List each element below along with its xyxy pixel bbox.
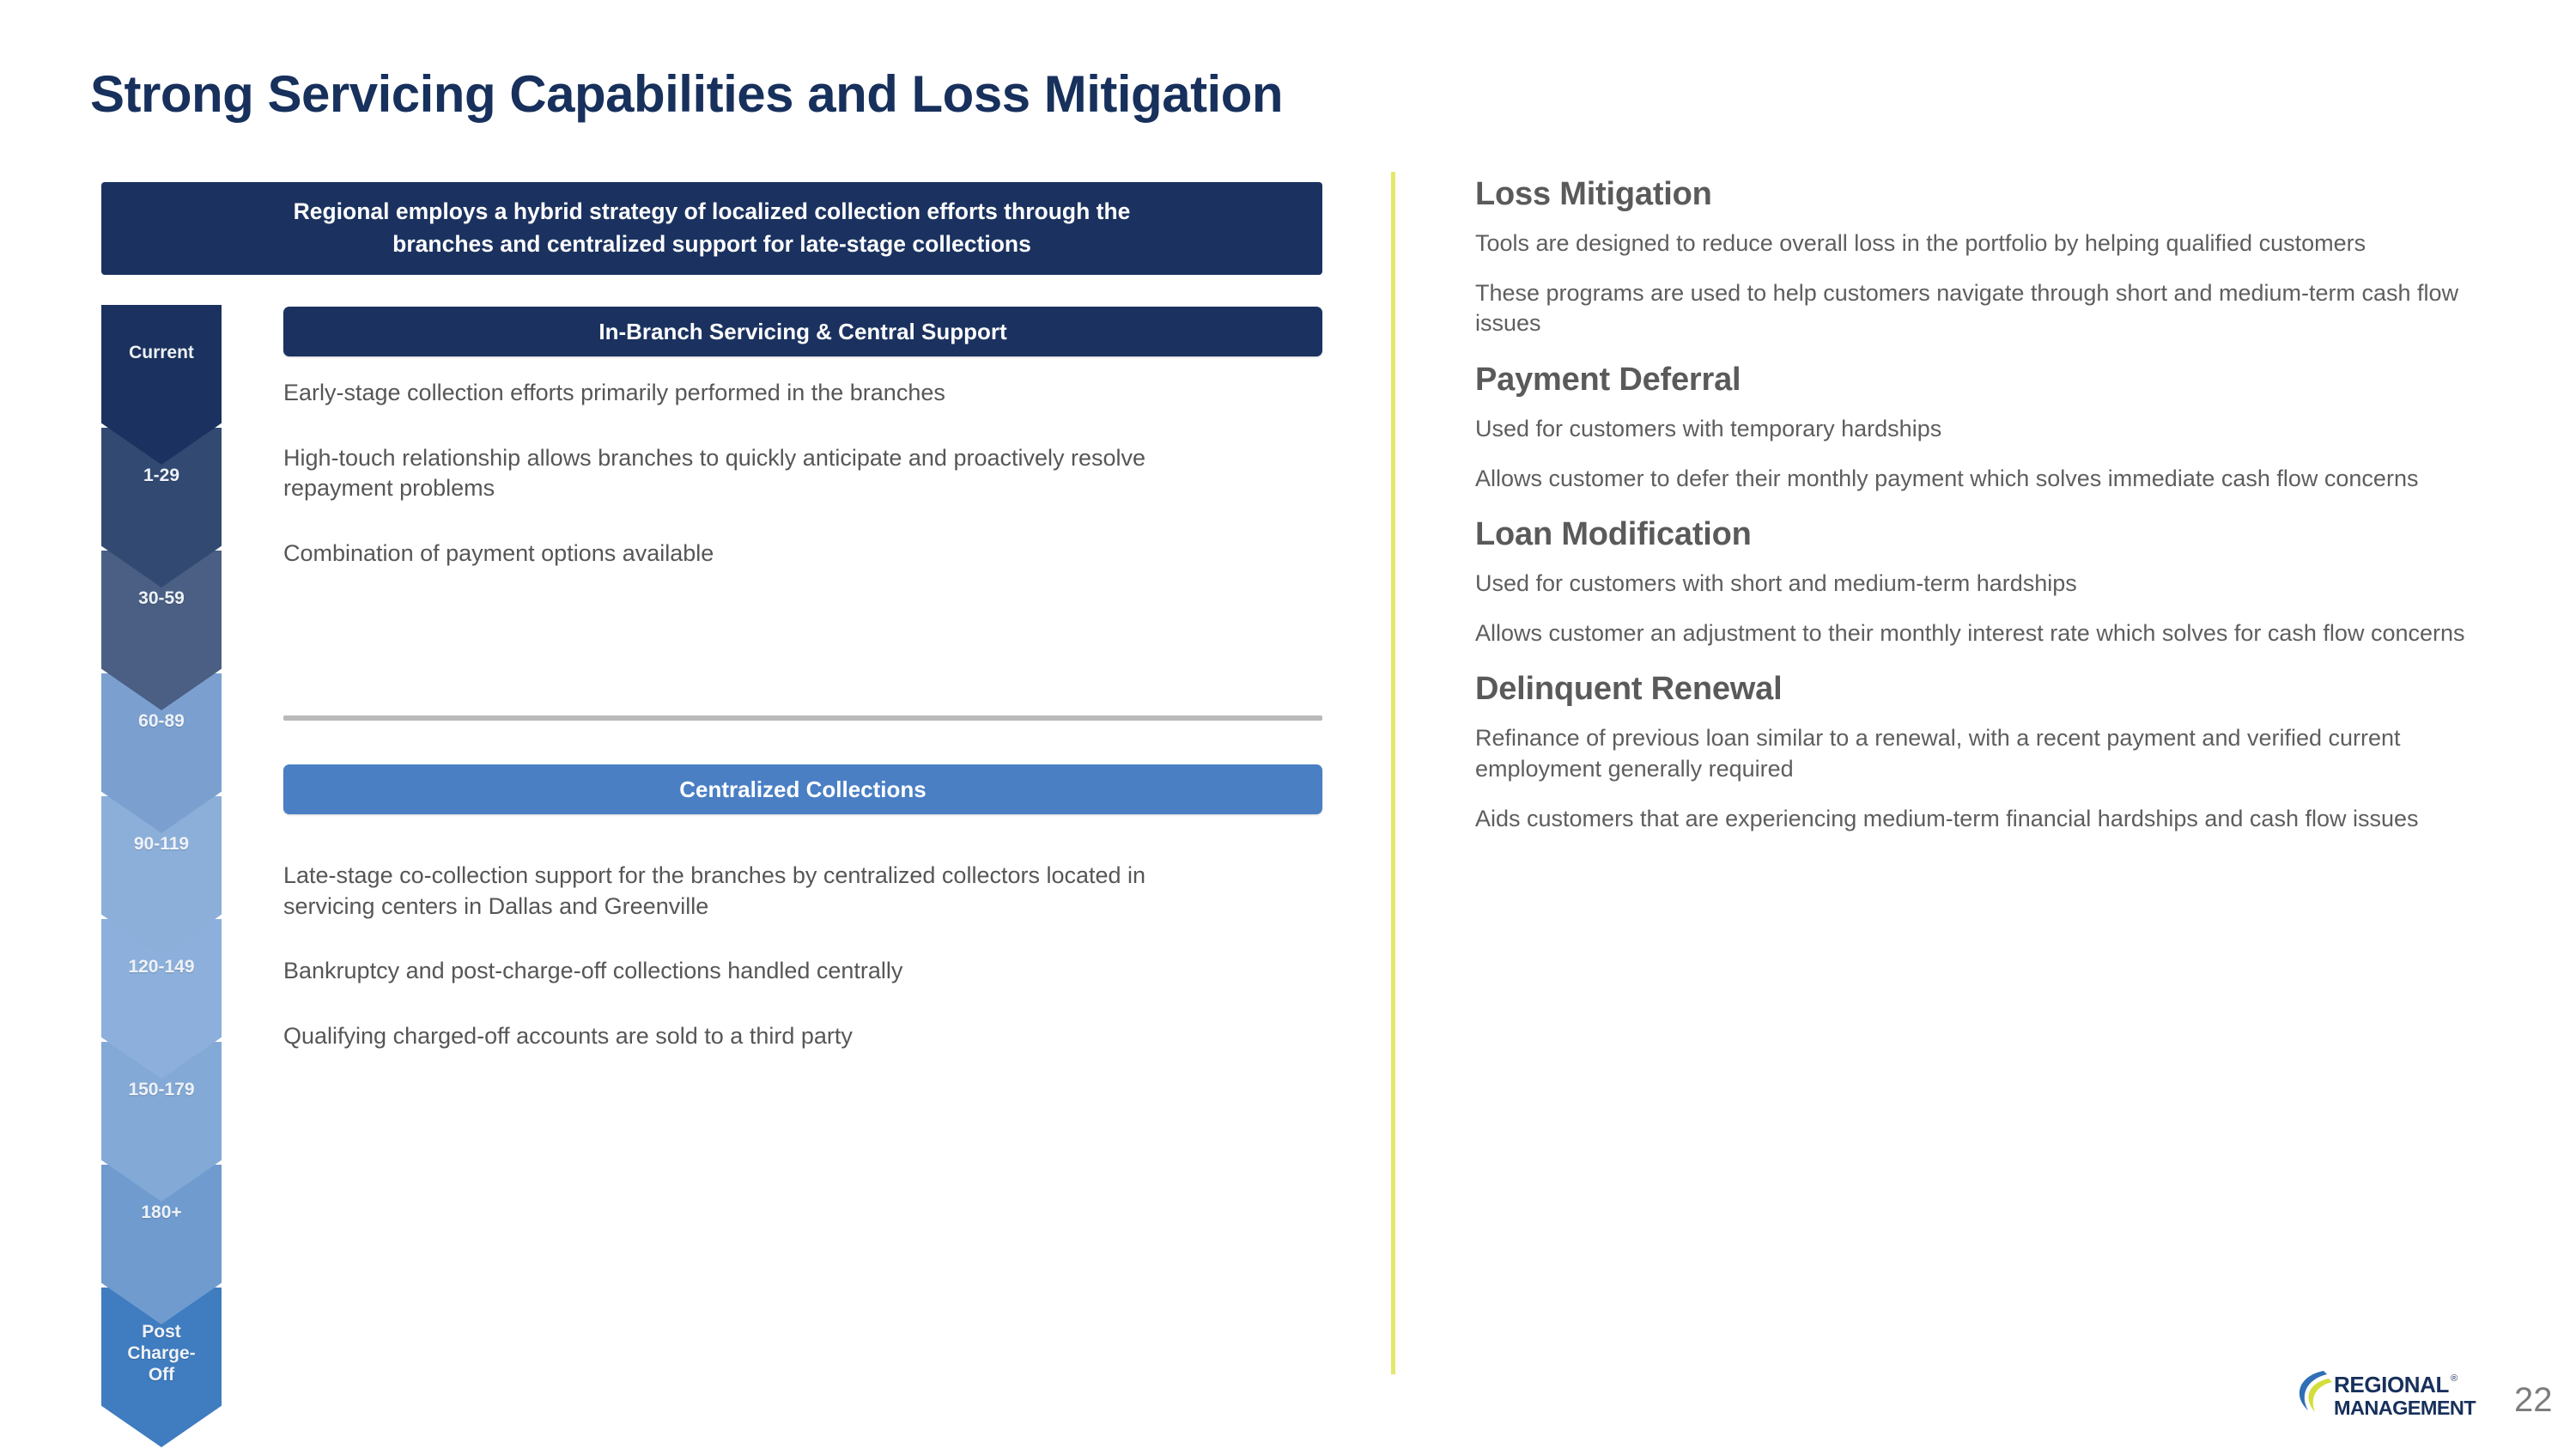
section-divider xyxy=(283,715,1322,721)
right-section-paragraph: Tools are designed to reduce overall los… xyxy=(1475,228,2518,259)
right-section-title: Loss Mitigation xyxy=(1475,176,2531,213)
strategy-banner: Regional employs a hybrid strategy of lo… xyxy=(101,182,1322,275)
list-item: Bankruptcy and post-charge-off collectio… xyxy=(283,956,1232,987)
chevron-stage-label: Current xyxy=(129,305,194,364)
in-branch-item-list: Early-stage collection efforts primarily… xyxy=(283,378,1322,604)
banner-line-1: Regional employs a hybrid strategy of lo… xyxy=(294,196,1131,228)
left-column: Regional employs a hybrid strategy of lo… xyxy=(101,182,1322,275)
in-branch-section-header-label: In-Branch Servicing & Central Support xyxy=(598,319,1006,345)
right-section-paragraph: Used for customers with short and medium… xyxy=(1475,569,2518,600)
right-section-2: Payment DeferralUsed for customers with … xyxy=(1475,362,2531,494)
right-section-title: Payment Deferral xyxy=(1475,362,2531,399)
in-branch-section-header: In-Branch Servicing & Central Support xyxy=(283,307,1322,356)
right-section-3: Loan ModificationUsed for customers with… xyxy=(1475,516,2531,648)
right-column: Loss MitigationTools are designed to red… xyxy=(1475,176,2531,856)
centralized-section-header-label: Centralized Collections xyxy=(679,776,927,803)
right-section-paragraph: Allows customer to defer their monthly p… xyxy=(1475,464,2518,495)
right-section-title: Loan Modification xyxy=(1475,516,2531,553)
list-item: High-touch relationship allows branches … xyxy=(283,443,1232,504)
page-number: 22 xyxy=(2514,1381,2553,1420)
right-section-4: Delinquent RenewalRefinance of previous … xyxy=(1475,671,2531,834)
right-section-paragraph: Used for customers with temporary hardsh… xyxy=(1475,414,2518,445)
logo-wordmark-bottom: MANAGEMENT xyxy=(2334,1397,2476,1419)
logo-trademark: ® xyxy=(2451,1373,2458,1384)
right-section-paragraph: These programs are used to help customer… xyxy=(1475,278,2518,339)
logo-wordmark-top: REGIONAL xyxy=(2334,1372,2450,1397)
page-title: Strong Servicing Capabilities and Loss M… xyxy=(90,64,1283,124)
right-section-paragraph: Aids customers that are experiencing med… xyxy=(1475,804,2518,835)
delinquency-stage-chevron-stack: Current1-2930-5960-8990-119120-149150-17… xyxy=(101,305,222,1422)
centralized-item-list: Late-stage co-collection support for the… xyxy=(283,861,1322,1087)
column-separator xyxy=(1391,172,1395,1374)
list-item: Combination of payment options available xyxy=(283,539,1232,569)
right-section-title: Delinquent Renewal xyxy=(1475,671,2531,708)
right-section-1: Loss MitigationTools are designed to red… xyxy=(1475,176,2531,339)
list-item: Qualifying charged-off accounts are sold… xyxy=(283,1021,1232,1052)
list-item: Early-stage collection efforts primarily… xyxy=(283,378,1232,409)
centralized-section-header: Centralized Collections xyxy=(283,764,1322,814)
banner-line-2: branches and centralized support for lat… xyxy=(392,228,1031,261)
logo-swoosh-green-icon xyxy=(2309,1379,2332,1412)
right-section-paragraph: Refinance of previous loan similar to a … xyxy=(1475,723,2518,784)
list-item: Late-stage co-collection support for the… xyxy=(283,861,1232,922)
regional-management-logo: REGIONAL ® MANAGEMENT xyxy=(2289,1364,2504,1426)
right-section-paragraph: Allows customer an adjustment to their m… xyxy=(1475,618,2518,649)
logo-svg: REGIONAL ® MANAGEMENT xyxy=(2289,1364,2504,1426)
